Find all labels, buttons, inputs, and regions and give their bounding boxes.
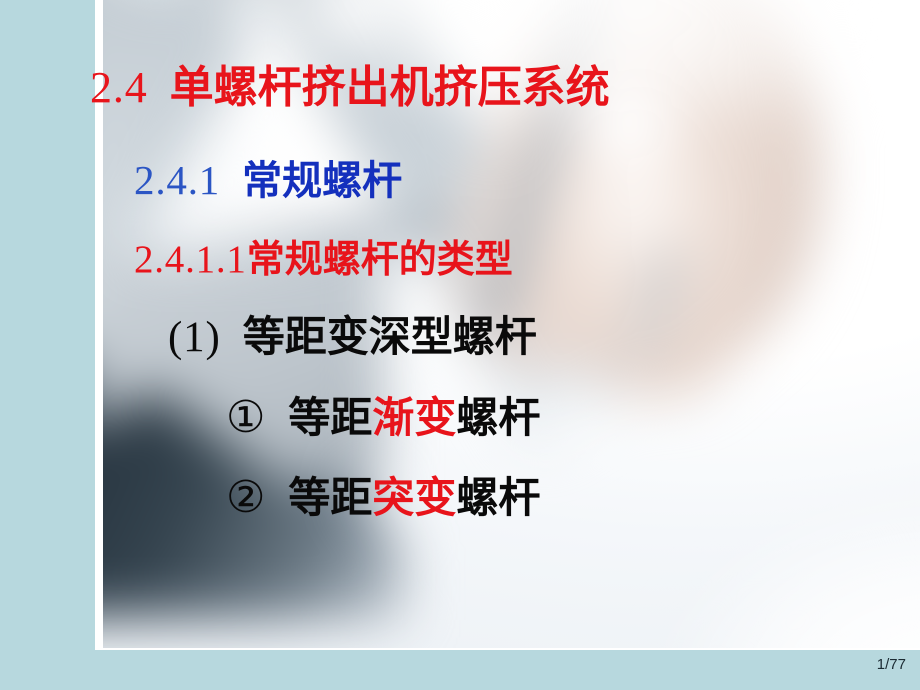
list-item-2-text-highlight: 渐变 [372, 393, 456, 442]
list-item-1-text: 等距变深型螺杆 [243, 312, 537, 361]
list-item-2-marker: ① [226, 393, 266, 442]
slide: 2.4单螺杆挤出机挤压系统 2.4.1常规螺杆 2.4.1.1常规螺杆的类型 (… [0, 0, 920, 690]
heading-1-number: 2.4 [90, 63, 148, 112]
heading-2-text: 常规螺杆 [242, 158, 402, 204]
heading-2-number: 2.4.1 [134, 157, 220, 203]
list-item-3-marker: ② [226, 473, 266, 522]
list-item-2-text-before: 等距 [288, 393, 372, 442]
list-item-2: ①等距渐变螺杆 [226, 396, 540, 440]
list-item-3-text-after: 螺杆 [456, 473, 540, 522]
slide-text-content: 2.4单螺杆挤出机挤压系统 2.4.1常规螺杆 2.4.1.1常规螺杆的类型 (… [0, 0, 920, 650]
heading-3-text: 常规螺杆的类型 [247, 237, 513, 281]
heading-level-2: 2.4.1常规螺杆 [134, 160, 402, 201]
heading-level-3: 2.4.1.1常规螺杆的类型 [134, 240, 513, 279]
list-item-1: (1)等距变深型螺杆 [168, 316, 537, 359]
heading-1-text: 单螺杆挤出机挤压系统 [170, 62, 610, 113]
page-indicator: 1/77 [877, 656, 906, 673]
list-item-3: ②等距突变螺杆 [226, 476, 540, 520]
list-item-3-text-highlight: 突变 [372, 473, 456, 522]
slide-footer: 1/77 [0, 650, 920, 690]
list-item-2-text-after: 螺杆 [456, 393, 540, 442]
heading-3-number: 2.4.1.1 [134, 238, 247, 281]
list-item-1-number: (1) [168, 314, 221, 361]
list-item-3-text-before: 等距 [288, 473, 372, 522]
heading-level-1: 2.4单螺杆挤出机挤压系统 [90, 66, 610, 110]
